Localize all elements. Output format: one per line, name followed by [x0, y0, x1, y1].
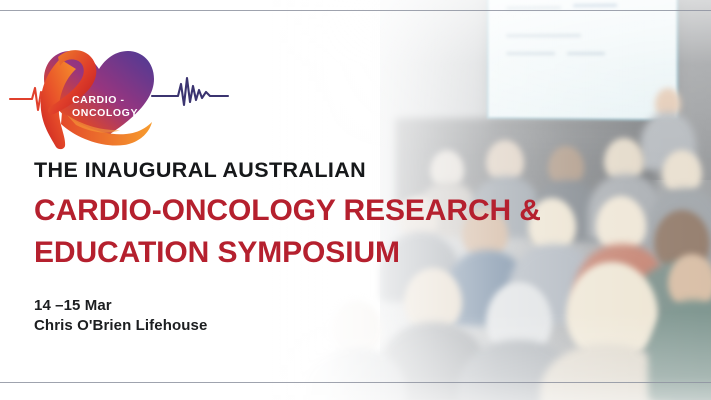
headline-block: THE INAUGURAL AUSTRALIAN CARDIO-ONCOLOGY… — [34, 160, 554, 336]
headline-line-2: EDUCATION SYMPOSIUM — [34, 238, 554, 268]
logo-line-1: CARDIO - — [72, 94, 164, 107]
event-venue: Chris O'Brien Lifehouse — [34, 316, 554, 336]
kicker-text: THE INAUGURAL AUSTRALIAN — [34, 160, 554, 182]
divider-line-top — [0, 10, 711, 11]
logo-line-2: ONCOLOGY — [72, 107, 164, 120]
headline-line-1: CARDIO-ONCOLOGY RESEARCH & — [34, 196, 554, 226]
symposium-banner: CARDIO - ONCOLOGY THE INAUGURAL AUSTRALI… — [0, 0, 711, 400]
logo-artwork — [6, 26, 231, 151]
event-dates: 14 –15 Mar — [34, 296, 554, 316]
event-details: 14 –15 Mar Chris O'Brien Lifehouse — [34, 296, 554, 336]
logo-wordmark: CARDIO - ONCOLOGY — [72, 94, 164, 120]
divider-line-bottom — [0, 382, 711, 383]
cardio-oncology-logo: CARDIO - ONCOLOGY — [6, 26, 231, 151]
